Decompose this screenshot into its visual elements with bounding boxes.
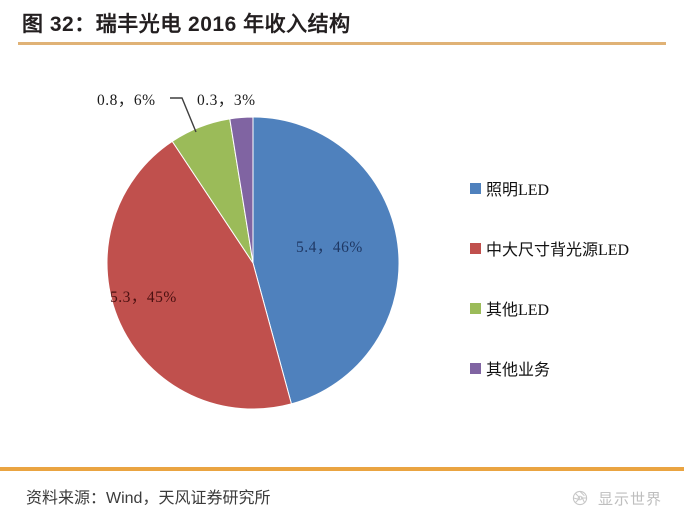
watermark-text: 显示世界 (598, 488, 662, 509)
pie-slices-group (107, 117, 399, 409)
legend-item[interactable]: 其他业务 (470, 338, 684, 398)
source-note: 资料来源：Wind，天风证券研究所 (26, 484, 270, 508)
legend-item[interactable]: 照明LED (470, 158, 684, 218)
camera-shutter-icon (569, 487, 591, 509)
footer-divider (0, 467, 684, 471)
legend-label: 其他业务 (486, 356, 550, 380)
leader-line-other-led (170, 98, 196, 132)
legend-swatch-icon (470, 303, 481, 314)
legend-item[interactable]: 中大尺寸背光源LED (470, 218, 684, 278)
legend-item[interactable]: 其他LED (470, 278, 684, 338)
legend-swatch-icon (470, 183, 481, 194)
data-label-backlight-led: 5.3，45% (110, 285, 177, 307)
legend-label: 照明LED (486, 176, 549, 200)
figure-container: 图 32：瑞丰光电 2016 年收入结构 5.4，46% 5.3，45% 0.8… (0, 0, 684, 527)
chart-legend: 照明LED中大尺寸背光源LED其他LED其他业务 (470, 158, 684, 398)
data-label-other-led: 0.8，6% (97, 88, 156, 110)
legend-swatch-icon (470, 243, 481, 254)
legend-swatch-icon (470, 363, 481, 374)
title-divider (18, 42, 666, 45)
watermark: 显示世界 (569, 487, 662, 509)
data-label-other-biz: 0.3，3% (197, 88, 256, 110)
data-label-lighting-led: 5.4，46% (296, 235, 363, 257)
legend-label: 其他LED (486, 296, 549, 320)
legend-label: 中大尺寸背光源LED (486, 236, 629, 260)
page-title: 图 32：瑞丰光电 2016 年收入结构 (22, 8, 351, 38)
